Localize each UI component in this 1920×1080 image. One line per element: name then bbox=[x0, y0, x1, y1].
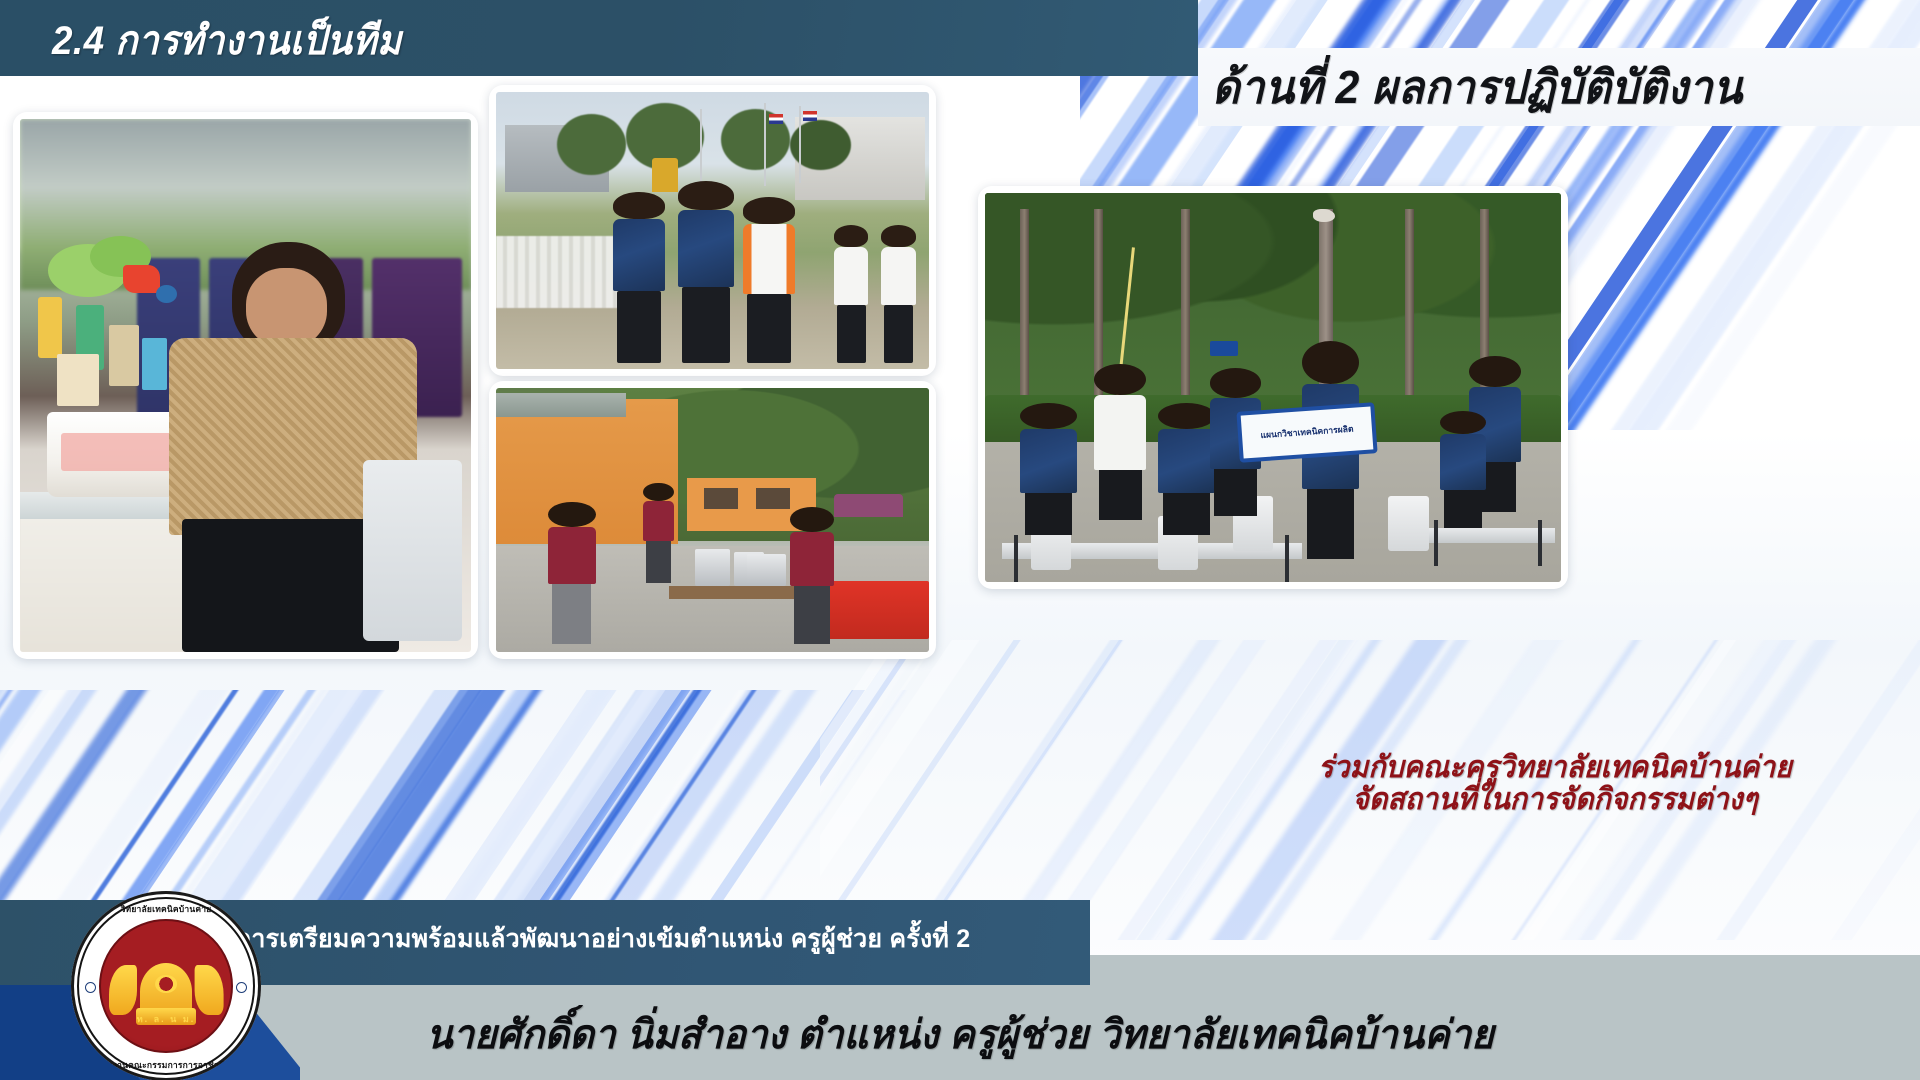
photo-registration-booth: แผนกวิชาเทคนิคการผลิต bbox=[985, 193, 1561, 582]
photo-kitchen-water-station bbox=[496, 388, 929, 652]
slide-main-title: ด้านที่ 2 ผลการปฏิบัติบัติงาน bbox=[1212, 51, 1743, 124]
photo-caption-red: ร่วมกับคณะครูวิทยาลัยเทคนิคบ้านค่าย จัดส… bbox=[1190, 752, 1920, 817]
presenter-name-line: นายศักดิ์ดา นิ่มสำอาง ตำแหน่ง ครูผู้ช่วย… bbox=[38, 1002, 1881, 1066]
photo-three-students-ceremony bbox=[496, 92, 929, 369]
footer-program-title: การเตรียมความพร้อมแล้วพัฒนาอย่างเข้มตำแห… bbox=[236, 919, 970, 959]
photo-card-three-students[interactable] bbox=[489, 85, 936, 376]
slide-canvas: 2.4 การทำงานเป็นทีม ด้านที่ 2 ผลการปฏิบั… bbox=[0, 0, 1920, 1080]
section-title: 2.4 การทำงานเป็นทีม bbox=[52, 8, 402, 72]
booth-sign: แผนกวิชาเทคนิคการผลิต bbox=[1237, 402, 1378, 462]
photo-card-booth[interactable]: แผนกวิชาเทคนิคการผลิต bbox=[978, 186, 1568, 589]
photo-card-portrait[interactable] bbox=[13, 112, 478, 659]
booth-sign-label: แผนกวิชาเทคนิคการผลิต bbox=[1261, 422, 1355, 442]
header-bar: 2.4 การทำงานเป็นทีม bbox=[0, 0, 1198, 76]
photo-portrait-with-money-tree bbox=[20, 119, 471, 652]
caption-line-1: ร่วมกับคณะครูวิทยาลัยเทคนิคบ้านค่าย bbox=[1208, 752, 1902, 784]
logo-top-text: วิทยาลัยเทคนิคบ้านค่าย bbox=[71, 902, 261, 916]
caption-line-2: จัดสถานที่ในการจัดกิจกรรมต่างๆ bbox=[1208, 784, 1902, 816]
photo-card-kitchen[interactable] bbox=[489, 381, 936, 659]
title-ribbon: ด้านที่ 2 ผลการปฏิบัติบัติงาน bbox=[1198, 48, 1920, 126]
